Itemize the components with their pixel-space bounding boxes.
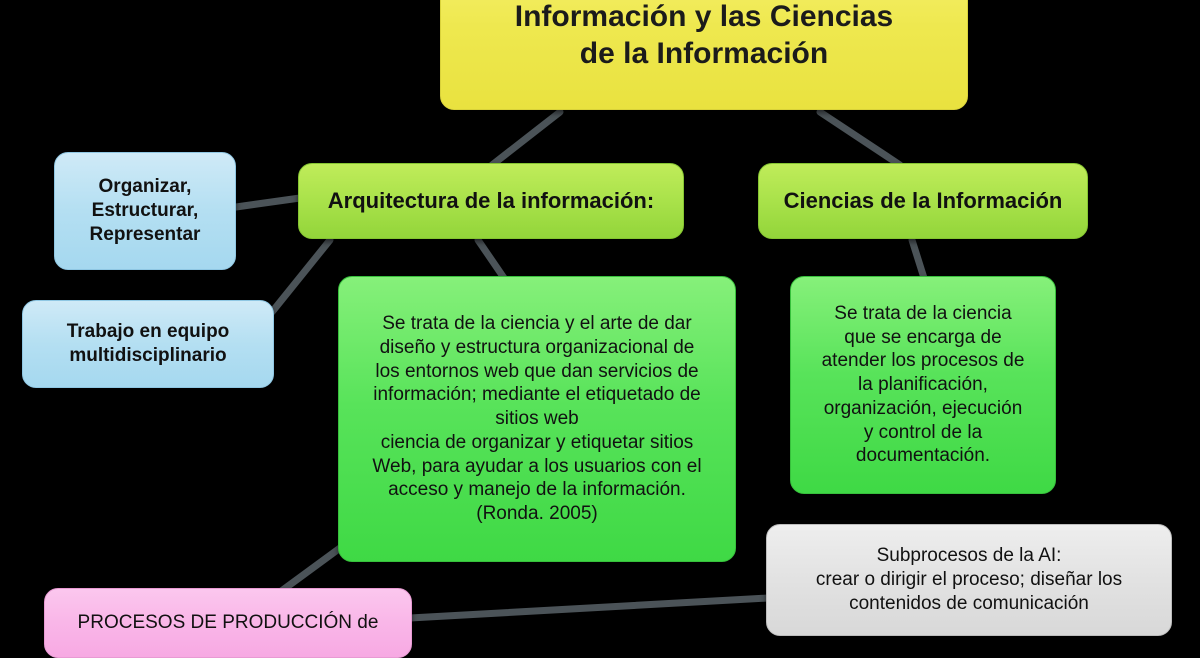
connector-procesos-subprocesos [410,598,768,618]
connector-title-ciencias [820,112,900,165]
node-arquitectura-descripcion[interactable]: Se trata de la ciencia y el arte de dar … [338,276,736,562]
connector-title-arquitectura [492,112,560,165]
node-organizar-estructurar-representar[interactable]: Organizar, Estructurar, Representar [54,152,236,270]
node-ciencias-de-la-informacion[interactable]: Ciencias de la Información [758,163,1088,239]
node-ciencias-descripcion[interactable]: Se trata de la ciencia que se encarga de… [790,276,1056,494]
connector-desc-procesos [280,548,340,592]
connector-trabajo-arquitectura [272,240,330,312]
node-procesos-de-produccion[interactable]: PROCESOS DE PRODUCCIÓN de [44,588,412,658]
node-trabajo-en-equipo-multidisciplinario[interactable]: Trabajo en equipo multidisciplinario [22,300,274,388]
diagram-canvas: Información y las Ciencias de la Informa… [0,0,1200,630]
connector-organizar-arquitectura [236,198,300,207]
node-subprocesos-ai[interactable]: Subprocesos de la AI: crear o dirigir el… [766,524,1172,636]
connector-ciencias-desc [912,240,924,278]
connector-arquitectura-desc [478,240,504,278]
node-title[interactable]: Información y las Ciencias de la Informa… [440,0,968,110]
node-arquitectura-de-la-informacion[interactable]: Arquitectura de la información: [298,163,684,239]
